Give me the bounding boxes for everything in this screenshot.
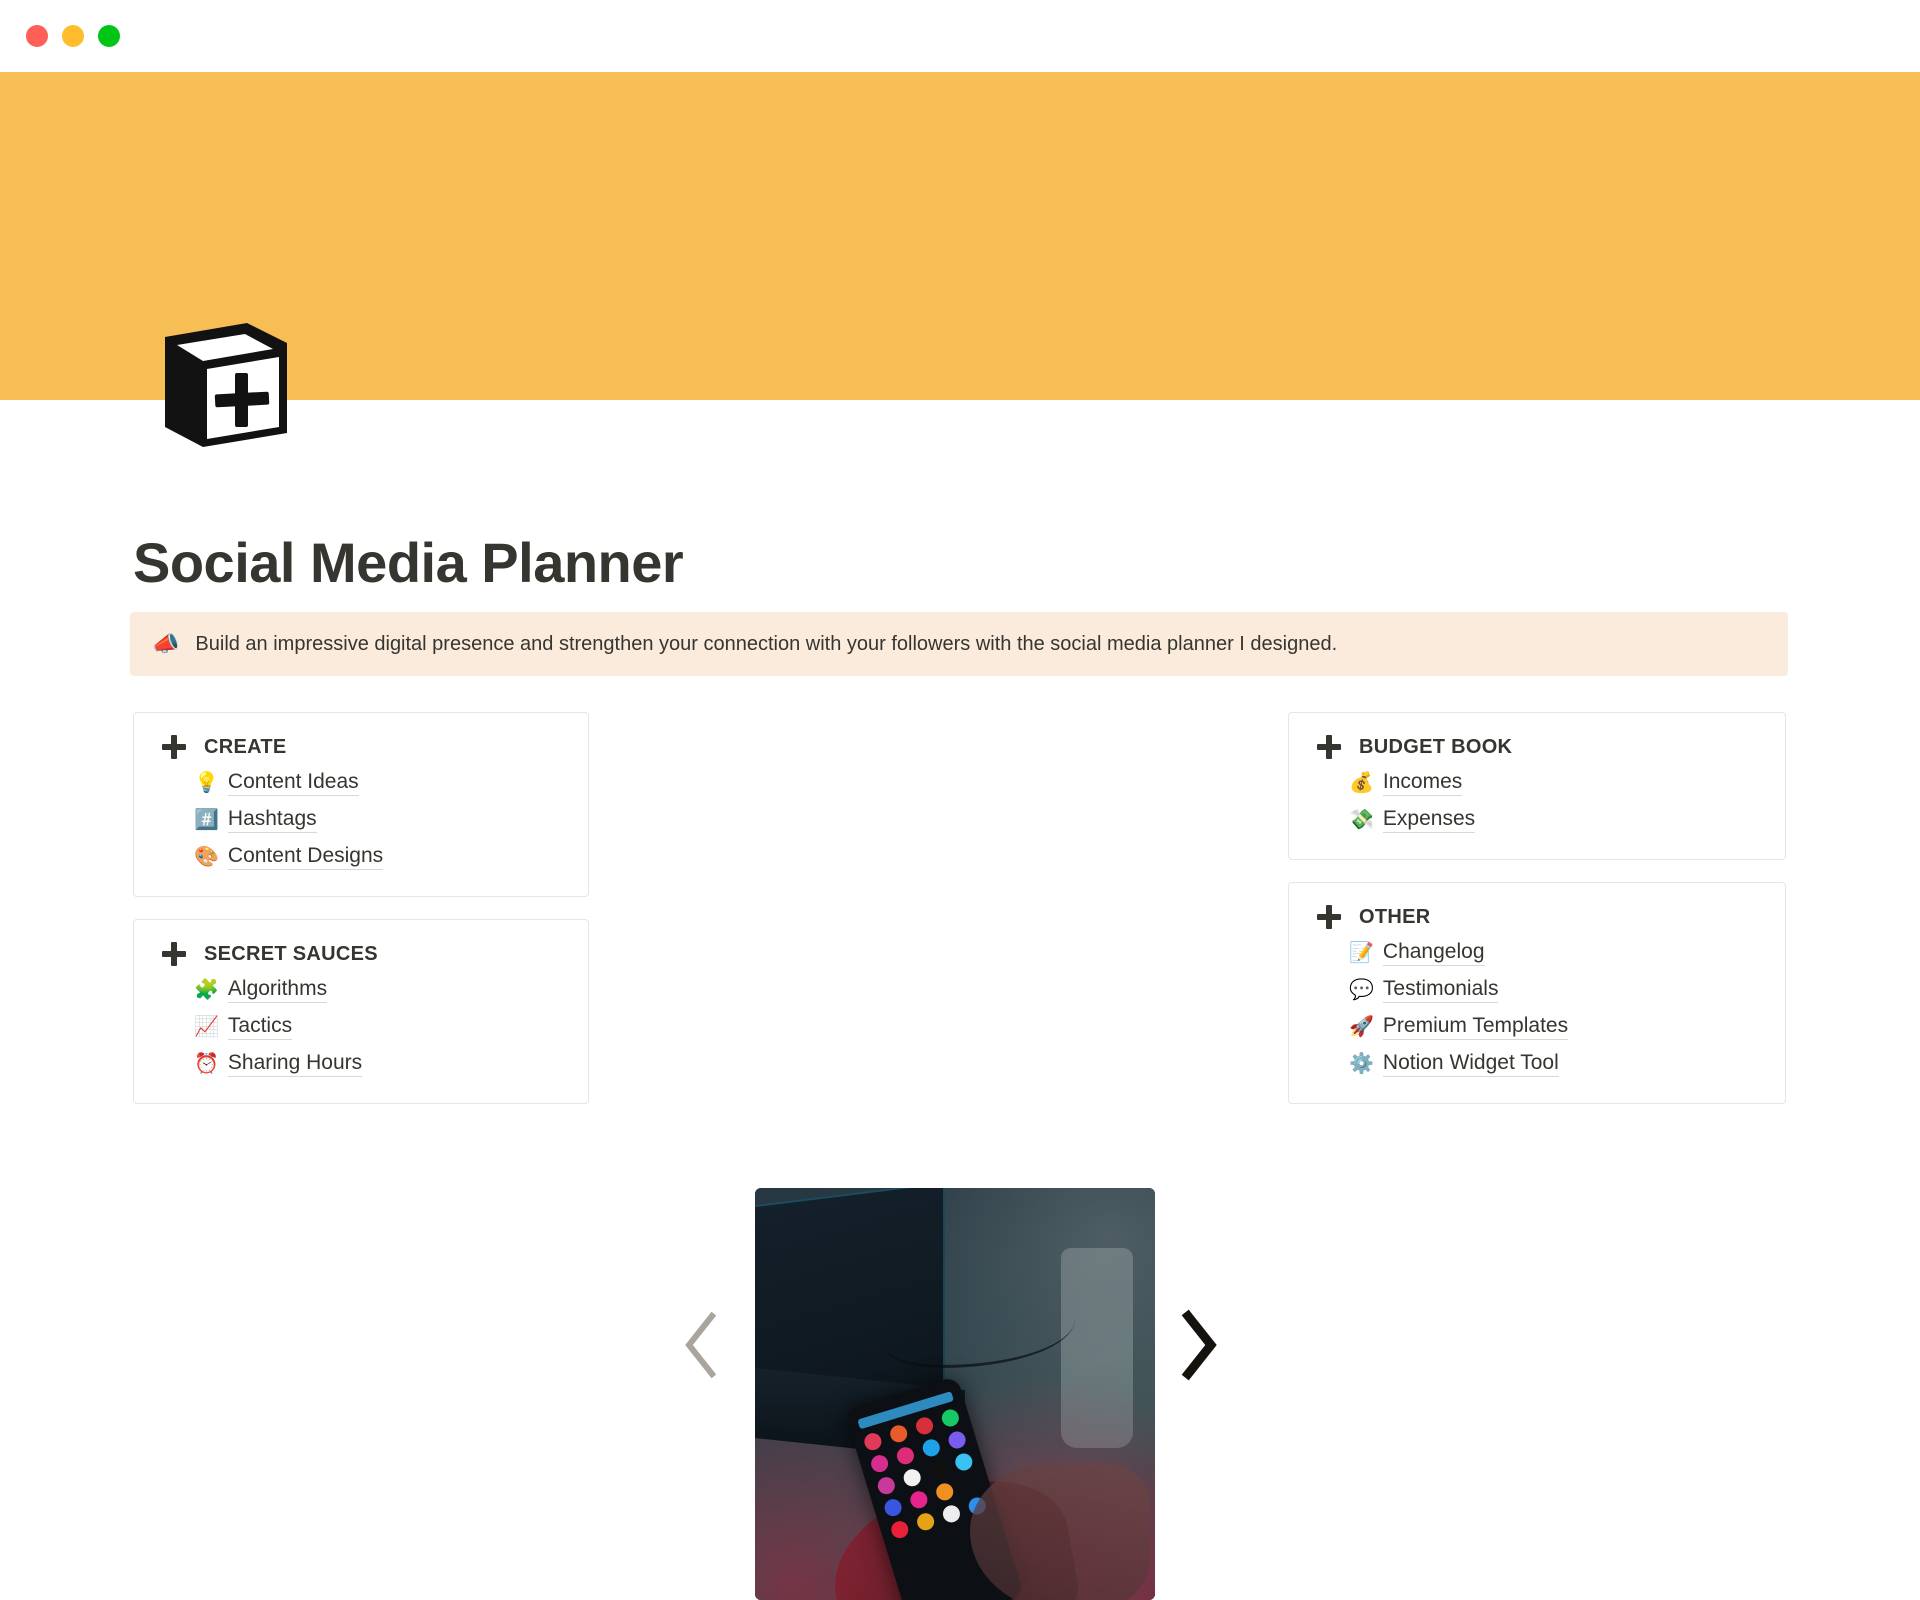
light-bulb-icon: 💡 (194, 773, 219, 793)
list-item[interactable]: 🚀 Premium Templates (1349, 1014, 1757, 1040)
memo-icon: 📝 (1349, 943, 1374, 963)
card-title: CREATE (204, 736, 287, 759)
card-budget-book: BUDGET BOOK 💰 Incomes 💸 Expenses (1288, 712, 1786, 860)
list-item[interactable]: 🎨 Content Designs (194, 844, 560, 870)
link-sharing-hours[interactable]: Sharing Hours (228, 1051, 362, 1077)
list-item[interactable]: 📝 Changelog (1349, 940, 1757, 966)
card-secret-sauces: SECRET SAUCES 🧩 Algorithms 📈 Tactics ⏰ S… (133, 919, 589, 1104)
carousel-image[interactable] (755, 1188, 1155, 1600)
card-item-list: 🧩 Algorithms 📈 Tactics ⏰ Sharing Hours (162, 977, 560, 1077)
link-premium-templates[interactable]: Premium Templates (1383, 1014, 1568, 1040)
list-item[interactable]: 💰 Incomes (1349, 770, 1757, 796)
list-item[interactable]: 🧩 Algorithms (194, 977, 560, 1003)
hand-shape-secondary (970, 1463, 1150, 1600)
link-changelog[interactable]: Changelog (1383, 940, 1485, 966)
card-header[interactable]: BUDGET BOOK (1317, 735, 1757, 759)
list-item[interactable]: 💡 Content Ideas (194, 770, 560, 796)
photo-background (755, 1188, 1155, 1600)
hashtag-icon: #️⃣ (194, 810, 219, 830)
link-notion-widget-tool[interactable]: Notion Widget Tool (1383, 1051, 1559, 1077)
rocket-icon: 🚀 (1349, 1017, 1374, 1037)
window-titlebar (0, 0, 1920, 72)
money-with-wings-icon: 💸 (1349, 810, 1374, 830)
list-item[interactable]: ⚙️ Notion Widget Tool (1349, 1051, 1757, 1077)
left-card-column: CREATE 💡 Content Ideas #️⃣ Hashtags 🎨 Co… (133, 712, 589, 1126)
speech-balloon-icon: 💬 (1349, 980, 1374, 1000)
card-item-list: 📝 Changelog 💬 Testimonials 🚀 Premium Tem… (1317, 940, 1757, 1077)
maximize-button[interactable] (98, 25, 120, 47)
plus-icon (1317, 735, 1341, 759)
page-title: Social Media Planner (133, 530, 683, 595)
card-item-list: 💰 Incomes 💸 Expenses (1317, 770, 1757, 833)
link-testimonials[interactable]: Testimonials (1383, 977, 1499, 1003)
alarm-clock-icon: ⏰ (194, 1054, 219, 1074)
list-item[interactable]: #️⃣ Hashtags (194, 807, 560, 833)
card-title: BUDGET BOOK (1359, 736, 1512, 759)
minimize-button[interactable] (62, 25, 84, 47)
link-incomes[interactable]: Incomes (1383, 770, 1462, 796)
megaphone-icon: 📣 (152, 633, 179, 655)
card-header[interactable]: SECRET SAUCES (162, 942, 560, 966)
list-item[interactable]: ⏰ Sharing Hours (194, 1051, 560, 1077)
plus-icon (162, 735, 186, 759)
list-item[interactable]: 💬 Testimonials (1349, 977, 1757, 1003)
list-item[interactable]: 📈 Tactics (194, 1014, 560, 1040)
artist-palette-icon: 🎨 (194, 847, 219, 867)
link-algorithms[interactable]: Algorithms (228, 977, 327, 1003)
card-other: OTHER 📝 Changelog 💬 Testimonials 🚀 Premi… (1288, 882, 1786, 1104)
card-title: SECRET SAUCES (204, 943, 378, 966)
card-title: OTHER (1359, 906, 1431, 929)
card-header[interactable]: OTHER (1317, 905, 1757, 929)
close-button[interactable] (26, 25, 48, 47)
callout-text: Build an impressive digital presence and… (195, 633, 1337, 656)
notion-cube-plus-icon[interactable] (155, 315, 295, 455)
link-hashtags[interactable]: Hashtags (228, 807, 317, 833)
puzzle-piece-icon: 🧩 (194, 980, 219, 1000)
link-content-ideas[interactable]: Content Ideas (228, 770, 359, 796)
money-bag-icon: 💰 (1349, 773, 1374, 793)
chart-increasing-icon: 📈 (194, 1017, 219, 1037)
callout-block: 📣 Build an impressive digital presence a… (130, 612, 1788, 676)
link-content-designs[interactable]: Content Designs (228, 844, 383, 870)
link-tactics[interactable]: Tactics (228, 1014, 292, 1040)
card-create: CREATE 💡 Content Ideas #️⃣ Hashtags 🎨 Co… (133, 712, 589, 897)
carousel-prev-button[interactable] (680, 1308, 726, 1382)
window-traffic-lights (0, 25, 120, 47)
cable-shape (885, 1298, 1075, 1368)
card-header[interactable]: CREATE (162, 735, 560, 759)
bottle-shape (1061, 1248, 1133, 1448)
plus-icon (162, 942, 186, 966)
carousel-next-button[interactable] (1174, 1308, 1220, 1382)
list-item[interactable]: 💸 Expenses (1349, 807, 1757, 833)
plus-icon (1317, 905, 1341, 929)
link-expenses[interactable]: Expenses (1383, 807, 1475, 833)
card-item-list: 💡 Content Ideas #️⃣ Hashtags 🎨 Content D… (162, 770, 560, 870)
image-carousel (680, 1090, 1220, 1600)
right-card-column: BUDGET BOOK 💰 Incomes 💸 Expenses OTHER (1288, 712, 1786, 1126)
gear-icon: ⚙️ (1349, 1054, 1374, 1074)
